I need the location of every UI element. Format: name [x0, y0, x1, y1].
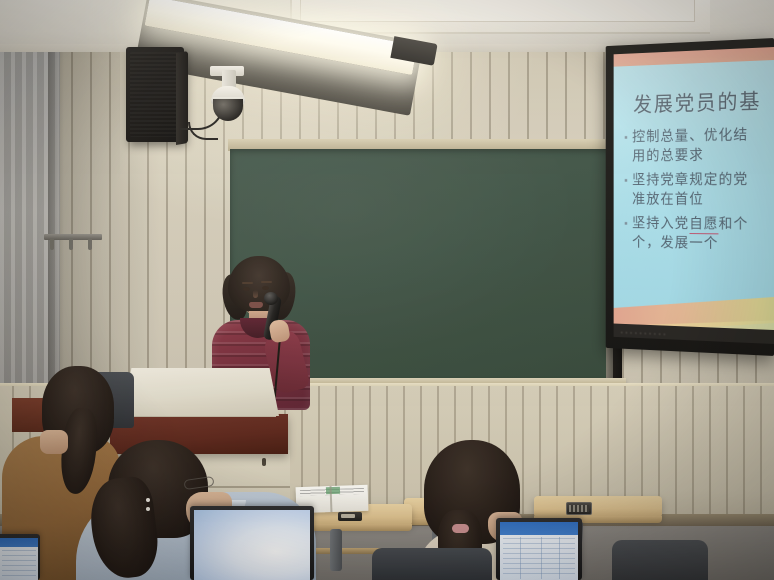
- bullet-marker-icon: ▪: [621, 214, 628, 233]
- desk-device-face: [569, 505, 589, 512]
- presenter-nose: [253, 290, 258, 298]
- presenter-mouth: [249, 302, 263, 308]
- bullet-3-prefix: 坚持入党: [632, 216, 689, 232]
- slide-highlight-word: 自愿: [689, 216, 718, 234]
- hair-clip-pearls: [146, 498, 150, 502]
- desk-right: [534, 496, 662, 518]
- papers-green-mark: [326, 487, 340, 494]
- projection-screen: 发展党员的基 ▪ 控制总量、优化结 用的总要求 ▪ 坚持党章规定的党 准放在首位: [606, 38, 774, 356]
- hair-tie: [452, 524, 469, 533]
- slide-bullet-2: ▪ 坚持党章规定的党 准放在首位: [621, 170, 774, 210]
- bullet-2-lines: 坚持党章规定的党 准放在首位: [632, 170, 748, 210]
- slide-bullet-3: ▪ 坚持入党自愿和个 个，发展一个: [621, 214, 774, 255]
- laptop-right-rows: [503, 538, 575, 577]
- bullet-3-line-2: 个，发展一个: [632, 233, 748, 254]
- hook-3: [88, 239, 92, 250]
- bullet-2-line-1: 坚持党章规定的党: [632, 170, 748, 190]
- classroom-photo: 发展党员的基 ▪ 控制总量、优化结 用的总要求 ▪ 坚持党章规定的党 准放在首位: [0, 0, 774, 580]
- laptop-right-app-header: [500, 522, 578, 535]
- clicker-label: [341, 514, 355, 518]
- desk-center-leg: [330, 529, 342, 571]
- chair-right: [612, 540, 708, 580]
- presenter-brow-right: [261, 281, 272, 283]
- presenter-eye-left: [243, 287, 250, 291]
- laptop-right-col-2: [541, 537, 542, 579]
- bullet-3-lines: 坚持入党自愿和个 个，发展一个: [632, 214, 748, 254]
- lectern: [122, 368, 279, 416]
- bullet-2-line-2: 准放在首位: [632, 190, 748, 210]
- slide-bullet-list: ▪ 控制总量、优化结 用的总要求 ▪ 坚持党章规定的党 准放在首位 ▪: [621, 125, 774, 260]
- bullet-1-line-1: 控制总量、优化结: [632, 126, 748, 148]
- laptop-right-col-1: [520, 537, 521, 579]
- bullet-1-line-2: 用的总要求: [632, 145, 748, 166]
- bullet-marker-icon: ▪: [621, 171, 628, 190]
- laptop-right-col-3: [559, 537, 560, 579]
- hook-2: [69, 239, 73, 250]
- laptop-left-screen[interactable]: [0, 538, 38, 580]
- slide-bullet-1: ▪ 控制总量、优化结 用的总要求: [621, 125, 774, 166]
- laptop-left-rows: [2, 550, 37, 579]
- podium-knob-1: [262, 458, 266, 466]
- laptop-center-screen[interactable]: [194, 510, 310, 580]
- bullet-marker-icon: ▪: [621, 128, 628, 147]
- ceiling-recess-inner: [300, 0, 695, 22]
- student-tan-coat-neck: [40, 430, 68, 454]
- hook-1: [50, 239, 54, 250]
- bullet-1-lines: 控制总量、优化结 用的总要求: [632, 126, 748, 167]
- chair-foreground: [372, 548, 492, 580]
- speaker-grill: [130, 52, 180, 137]
- slide-title: 发展党员的基: [633, 85, 761, 118]
- bullet-3-line-1: 坚持入党自愿和个: [632, 214, 748, 234]
- presenter-eye-right: [262, 286, 269, 290]
- bullet-3-suffix: 和个: [719, 217, 749, 233]
- projected-slide: 发展党员的基 ▪ 控制总量、优化结 用的总要求 ▪ 坚持党章规定的党 准放在首位: [614, 47, 774, 344]
- presenter-brow-left: [242, 282, 253, 284]
- laptop-left-app-header: [0, 538, 38, 547]
- laptop-right-screen[interactable]: [500, 522, 578, 580]
